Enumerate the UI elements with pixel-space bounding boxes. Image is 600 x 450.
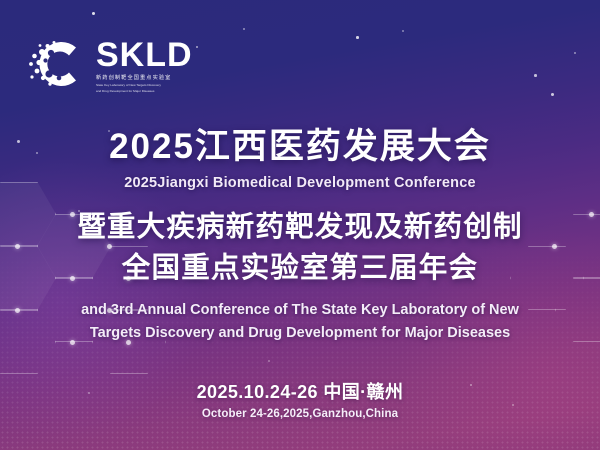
particle-dot [196, 46, 198, 48]
skld-logo: SKLD 新药创制靶全国重点实验室 State Key Laboratory o… [26, 32, 193, 96]
logo-name-en-line1: State Key Laboratory of New Targets Disc… [96, 83, 193, 88]
particle-dot [268, 360, 270, 362]
particle-dot [534, 74, 537, 77]
molecular-c-logo-icon [26, 32, 90, 96]
particle-dot [574, 52, 576, 54]
particle-dot [243, 28, 245, 30]
particle-dot [551, 93, 554, 96]
main-title-en: 2025Jiangxi Biomedical Development Confe… [0, 175, 600, 191]
subtitle-cn-line1: 暨重大疾病新药靶发现及新药创制 [0, 210, 600, 246]
logo-name-cn: 新药创制靶全国重点实验室 [96, 75, 193, 82]
logo-name-en-line2: and Drug Development for Major Diseases [96, 89, 193, 94]
date-location-cn: 2025.10.24-26 中国·赣州 [0, 378, 600, 404]
subtitle-en-line1: and 3rd Annual Conference of The State K… [0, 299, 600, 321]
particle-dot [92, 12, 95, 15]
particle-dot [356, 36, 359, 39]
poster-footer: 2025.10.24-26 中国·赣州 October 24-26,2025,G… [0, 378, 600, 420]
subtitle-en-line2: Targets Discovery and Drug Development f… [0, 322, 600, 344]
date-location-en: October 24-26,2025,Ganzhou,China [0, 408, 600, 420]
main-title-cn: 2025江西医药发展大会 [0, 126, 600, 168]
conference-poster: SKLD 新药创制靶全国重点实验室 State Key Laboratory o… [0, 0, 600, 450]
subtitle-cn-line2: 全国重点实验室第三届年会 [0, 251, 600, 287]
particle-dot [402, 30, 404, 32]
subtitle-en-block: and 3rd Annual Conference of The State K… [0, 299, 600, 344]
poster-content: 2025江西医药发展大会 2025Jiangxi Biomedical Deve… [0, 126, 600, 344]
logo-acronym: SKLD [96, 38, 193, 72]
logo-text-block: SKLD 新药创制靶全国重点实验室 State Key Laboratory o… [96, 34, 193, 93]
